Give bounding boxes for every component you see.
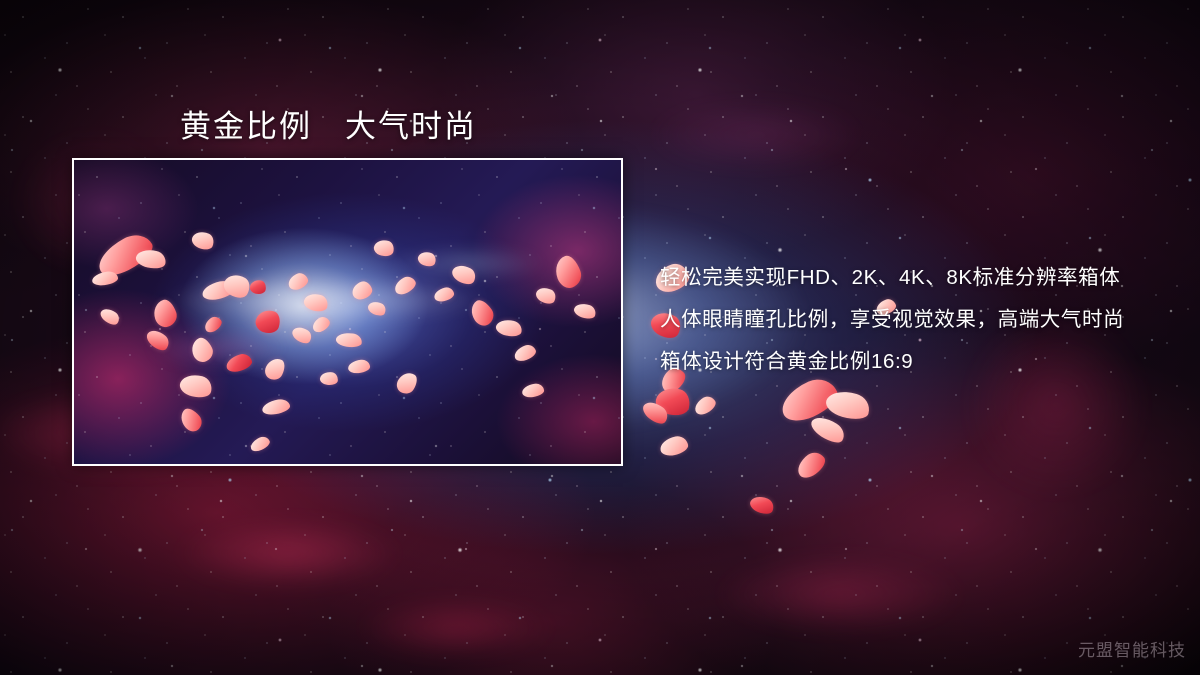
body-line: 轻松完美实现FHD、2K、4K、8K标准分辨率箱体 [660, 257, 1180, 299]
slide-canvas: 黄金比例 大气时尚 轻松完美实现FHD、2K、4K、8K标准分辨率箱体 人体眼睛… [0, 0, 1200, 675]
petal [823, 386, 872, 423]
galaxy-image-frame [72, 158, 623, 466]
petal [692, 394, 719, 418]
petal [658, 434, 689, 457]
watermark-brand: 元盟智能科技 [1078, 636, 1186, 661]
inner-wisps [74, 160, 621, 464]
frame-inner-image [74, 160, 621, 464]
petal [793, 448, 829, 482]
body-copy-block: 轻松完美实现FHD、2K、4K、8K标准分辨率箱体 人体眼睛瞳孔比例，享受视觉效… [660, 257, 1180, 383]
petal [808, 412, 849, 447]
petal [653, 384, 693, 418]
body-line: 人体眼睛瞳孔比例，享受视觉效果，高端大气时尚 [660, 299, 1180, 341]
page-title: 黄金比例 大气时尚 [180, 101, 477, 146]
petal [640, 397, 672, 427]
body-line: 箱体设计符合黄金比例16:9 [660, 341, 1180, 383]
petal [748, 493, 776, 517]
